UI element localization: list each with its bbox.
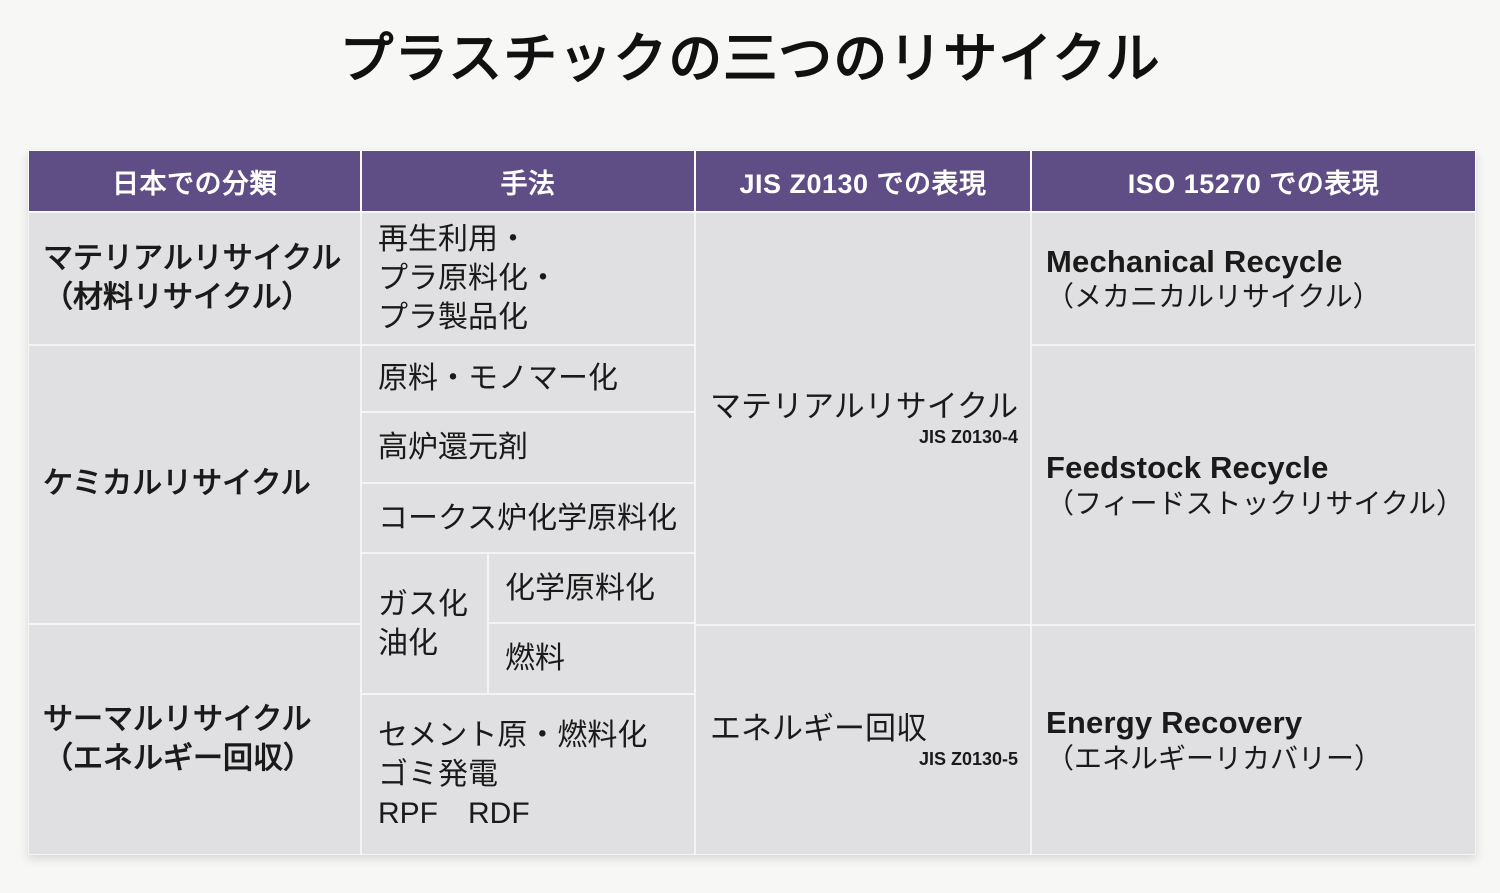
method-line-1: ガス化 xyxy=(378,585,468,624)
header-label: 手法 xyxy=(501,162,556,201)
category-line-1: マテリアルリサイクル xyxy=(43,240,341,278)
header-label: 日本での分類 xyxy=(112,162,277,201)
method-label: コークス炉化学原料化 xyxy=(378,499,677,538)
iso-english-label: Feedstock Recycle xyxy=(1046,449,1464,487)
jis-standard-code: JIS Z0130-5 xyxy=(710,749,1030,771)
cell-method-blast-furnace: 高炉還元剤 xyxy=(361,412,695,483)
category-line-1: サーマルリサイクル xyxy=(43,701,313,739)
jis-main-label: エネルギー回収 xyxy=(710,710,1030,747)
slide-canvas: プラスチックの三つのリサイクル 日本での分類 手法 JIS Z0130 での表現… xyxy=(0,0,1500,893)
table-header-iso: ISO 15270 での表現 xyxy=(1031,150,1476,212)
jis-standard-code: JIS Z0130-4 xyxy=(710,427,1030,449)
page-title: プラスチックの三つのリサイクル xyxy=(0,28,1500,90)
method-label: 原料・モノマー化 xyxy=(378,359,618,398)
method-line-3: プラ製品化 xyxy=(378,298,558,337)
cell-category-material-recycle: マテリアルリサイクル （材料リサイクル） xyxy=(28,212,361,345)
header-label: ISO 15270 での表現 xyxy=(1128,162,1380,201)
iso-english-label: Energy Recovery xyxy=(1046,704,1382,742)
table-header-japan-classification: 日本での分類 xyxy=(28,150,361,212)
recycling-comparison-table: 日本での分類 手法 JIS Z0130 での表現 ISO 15270 での表現 … xyxy=(28,150,1476,855)
table-header-method: 手法 xyxy=(361,150,695,212)
cell-method-gasification-fuel: 燃料 xyxy=(488,623,695,694)
cell-category-thermal-recycle: サーマルリサイクル （エネルギー回収） xyxy=(28,624,361,855)
method-label: 燃料 xyxy=(505,639,565,678)
cell-iso-mechanical-recycle: Mechanical Recycle （メカニカルリサイクル） xyxy=(1031,212,1476,345)
cell-iso-feedstock-recycle: Feedstock Recycle （フィードストックリサイクル） xyxy=(1031,345,1476,625)
category-line-1: ケミカルリサイクル xyxy=(43,465,311,503)
cell-method-thermal: セメント原・燃料化 ゴミ発電 RPF RDF xyxy=(361,694,695,855)
category-line-2: （エネルギー回収） xyxy=(43,740,313,778)
iso-japanese-label: （エネルギーリカバリー） xyxy=(1046,742,1382,776)
iso-english-label: Mechanical Recycle xyxy=(1046,243,1381,281)
cell-method-gasification-chemical-feedstock: 化学原料化 xyxy=(488,553,695,623)
method-line-2: ゴミ発電 xyxy=(378,755,647,794)
cell-method-gasification-oil: ガス化 油化 xyxy=(361,553,488,694)
cell-iso-energy-recovery: Energy Recovery （エネルギーリカバリー） xyxy=(1031,625,1476,855)
cell-method-monomer: 原料・モノマー化 xyxy=(361,345,695,412)
method-label: 化学原料化 xyxy=(505,569,655,608)
method-line-2: プラ原料化・ xyxy=(378,259,558,298)
cell-jis-energy-recovery: エネルギー回収 JIS Z0130-5 xyxy=(695,625,1031,855)
iso-japanese-label: （メカニカルリサイクル） xyxy=(1046,280,1381,314)
jis-main-label: マテリアルリサイクル xyxy=(710,388,1030,425)
method-line-3: RPF RDF xyxy=(378,794,647,833)
method-label: 高炉還元剤 xyxy=(378,428,528,467)
header-label: JIS Z0130 での表現 xyxy=(739,162,986,201)
method-line-1: セメント原・燃料化 xyxy=(378,716,647,755)
cell-jis-material-recycle: マテリアルリサイクル JIS Z0130-4 xyxy=(695,212,1031,625)
category-line-2: （材料リサイクル） xyxy=(43,279,341,317)
method-line-2: 油化 xyxy=(378,624,468,663)
iso-japanese-label: （フィードストックリサイクル） xyxy=(1046,487,1464,521)
cell-method-coke-oven: コークス炉化学原料化 xyxy=(361,483,695,553)
table-header-jis: JIS Z0130 での表現 xyxy=(695,150,1031,212)
cell-method-material: 再生利用・ プラ原料化・ プラ製品化 xyxy=(361,212,695,345)
cell-category-chemical-recycle: ケミカルリサイクル xyxy=(28,345,361,624)
method-line-1: 再生利用・ xyxy=(378,220,558,259)
